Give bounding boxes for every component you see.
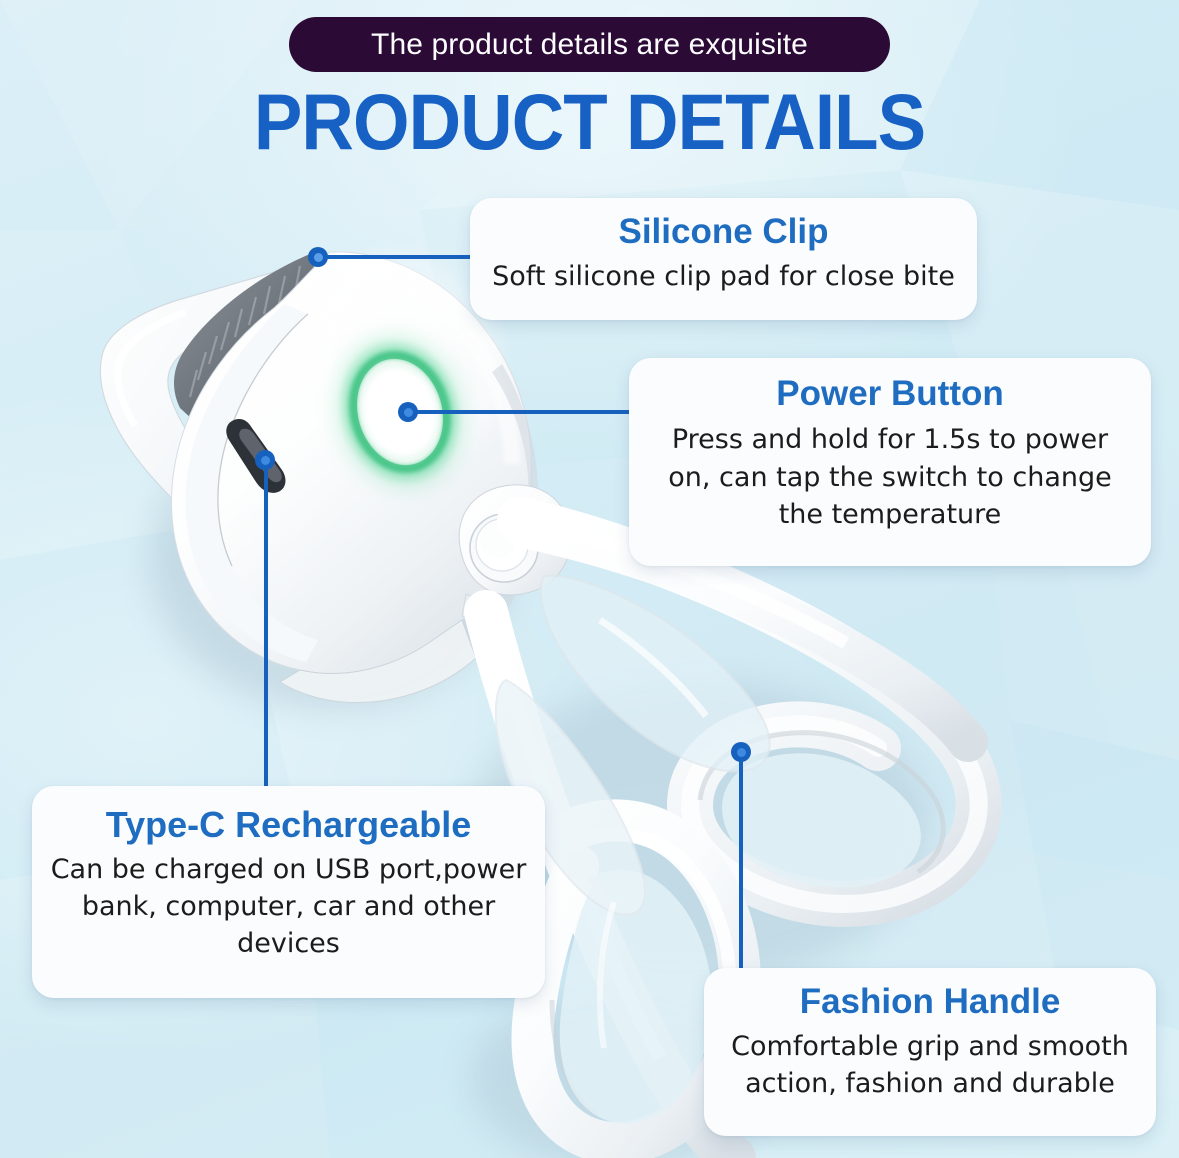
leader-line-power bbox=[414, 410, 636, 414]
leader-line-typec bbox=[264, 460, 268, 790]
ribbon-banner: The product details are exquisite bbox=[289, 17, 890, 72]
page-title: PRODUCT DETAILS bbox=[47, 82, 1132, 161]
infographic-canvas: The product details are exquisite PRODUC… bbox=[0, 0, 1179, 1158]
callout-card-power-button: Power Button Press and hold for 1.5s to … bbox=[629, 358, 1151, 566]
leader-line-fashion bbox=[739, 752, 743, 972]
anchor-dot-silicone-clip[interactable] bbox=[308, 247, 328, 267]
callout-card-type-c-rechargeable: Type-C Rechargeable Can be charged on US… bbox=[32, 786, 545, 998]
anchor-dot-usb-c-port[interactable] bbox=[255, 450, 275, 470]
callout-body-silicone-clip: Soft silicone clip pad for close bite bbox=[488, 259, 959, 295]
anchor-dot-power-button[interactable] bbox=[398, 402, 418, 422]
leader-line-silicone bbox=[326, 255, 476, 259]
callout-body-power-button: Press and hold for 1.5s to power on, can… bbox=[647, 421, 1133, 533]
callout-body-fashion-handle: Comfortable grip and smooth action, fash… bbox=[722, 1029, 1138, 1102]
callout-title-silicone-clip: Silicone Clip bbox=[488, 212, 959, 252]
callout-title-fashion-handle: Fashion Handle bbox=[722, 982, 1138, 1022]
callout-card-fashion-handle: Fashion Handle Comfortable grip and smoo… bbox=[704, 968, 1156, 1136]
callout-title-power-button: Power Button bbox=[647, 374, 1133, 414]
callout-card-silicone-clip: Silicone Clip Soft silicone clip pad for… bbox=[470, 198, 977, 320]
ribbon-text: The product details are exquisite bbox=[371, 28, 808, 62]
callout-body-type-c-rechargeable: Can be charged on USB port,power bank, c… bbox=[50, 852, 527, 962]
anchor-dot-fashion-handle[interactable] bbox=[731, 742, 751, 762]
callout-title-type-c-rechargeable: Type-C Rechargeable bbox=[50, 804, 527, 845]
